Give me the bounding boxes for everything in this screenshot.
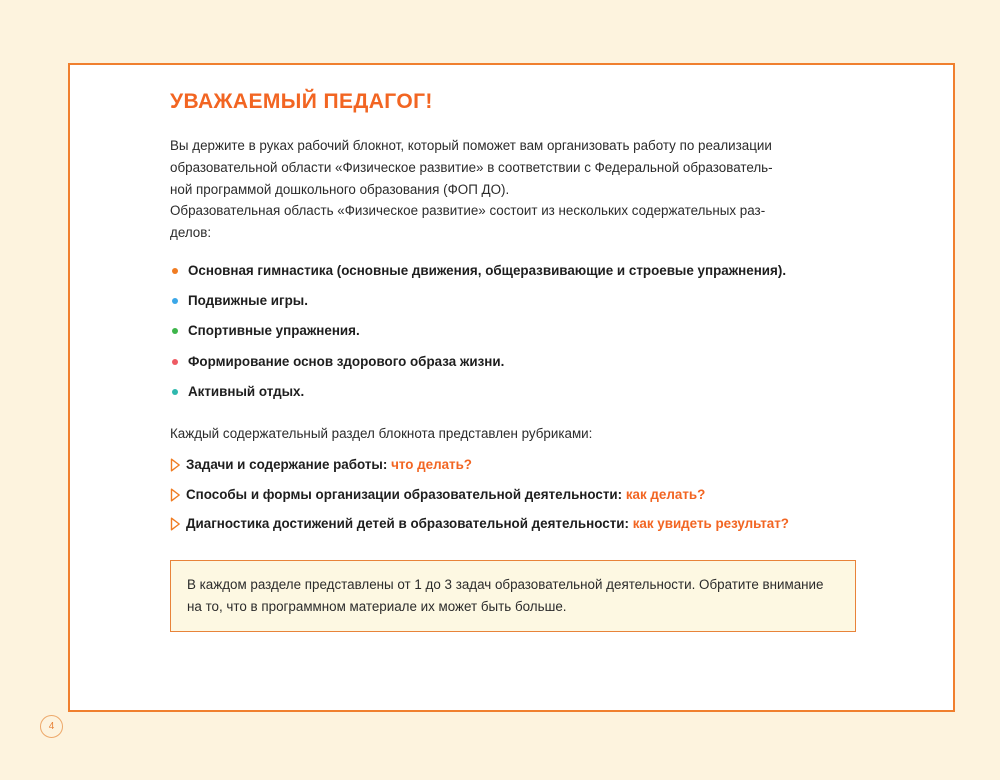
list-item-label: Подвижные игры. [188, 293, 308, 308]
content-frame: УВАЖАЕМЫЙ ПЕДАГОГ! Вы держите в руках ра… [68, 63, 955, 712]
intro-line: ной программой дошкольного образования (… [170, 179, 862, 201]
list-item-label: Активный отдых. [188, 384, 304, 399]
triangle-right-icon [170, 517, 181, 531]
list-item-label: Основная гимнастика (основные движения, … [188, 263, 786, 278]
rubric-question: как делать? [626, 487, 705, 502]
list-item: Активный отдых. [170, 382, 880, 401]
rubric-label: Диагностика достижений детей в образоват… [186, 516, 629, 531]
content-sections-list: Основная гимнастика (основные движения, … [170, 261, 870, 402]
rubric-item: Задачи и содержание работы: что делать? [170, 456, 870, 475]
intro-paragraph: Вы держите в руках рабочий блокнот, кото… [170, 135, 862, 244]
list-item: Формирование основ здорового образа жизн… [170, 352, 880, 371]
list-item-label: Формирование основ здорового образа жизн… [188, 354, 504, 369]
bullet-dot-icon [172, 298, 178, 304]
triangle-right-icon [170, 458, 181, 472]
callout-note-text: В каждом разделе представлены от 1 до 3 … [187, 577, 823, 613]
rubric-question: что делать? [391, 457, 472, 472]
intro-line: образовательной области «Физическое разв… [170, 157, 862, 179]
callout-note: В каждом разделе представлены от 1 до 3 … [170, 560, 856, 632]
page-title: УВАЖАЕМЫЙ ПЕДАГОГ! [170, 90, 870, 113]
bullet-dot-icon [172, 389, 178, 395]
list-item: Подвижные игры. [170, 291, 880, 310]
rubrics-list: Задачи и содержание работы: что делать? … [170, 456, 870, 534]
content-body: УВАЖАЕМЫЙ ПЕДАГОГ! Вы держите в руках ра… [170, 90, 870, 632]
rubric-label: Задачи и содержание работы: [186, 457, 387, 472]
triangle-right-icon [170, 488, 181, 502]
page-number-badge: 4 [40, 715, 63, 738]
bullet-dot-icon [172, 328, 178, 334]
rubric-label: Способы и формы организации образователь… [186, 487, 622, 502]
bullet-dot-icon [172, 268, 178, 274]
rubrics-lead-text: Каждый содержательный раздел блокнота пр… [170, 424, 870, 444]
bullet-dot-icon [172, 359, 178, 365]
intro-line: делов: [170, 222, 862, 244]
rubric-item: Способы и формы организации образователь… [170, 486, 870, 505]
intro-line: Вы держите в руках рабочий блокнот, кото… [170, 135, 862, 157]
list-item: Спортивные упражнения. [170, 321, 880, 340]
rubric-question: как увидеть результат? [633, 516, 789, 531]
list-item-label: Спортивные упражнения. [188, 323, 360, 338]
intro-line: Образовательная область «Физическое разв… [170, 200, 862, 222]
list-item: Основная гимнастика (основные движения, … [170, 261, 880, 280]
document-page: УВАЖАЕМЫЙ ПЕДАГОГ! Вы держите в руках ра… [0, 0, 1000, 780]
rubric-item: Диагностика достижений детей в образоват… [170, 515, 870, 534]
page-number-label: 4 [49, 721, 55, 732]
